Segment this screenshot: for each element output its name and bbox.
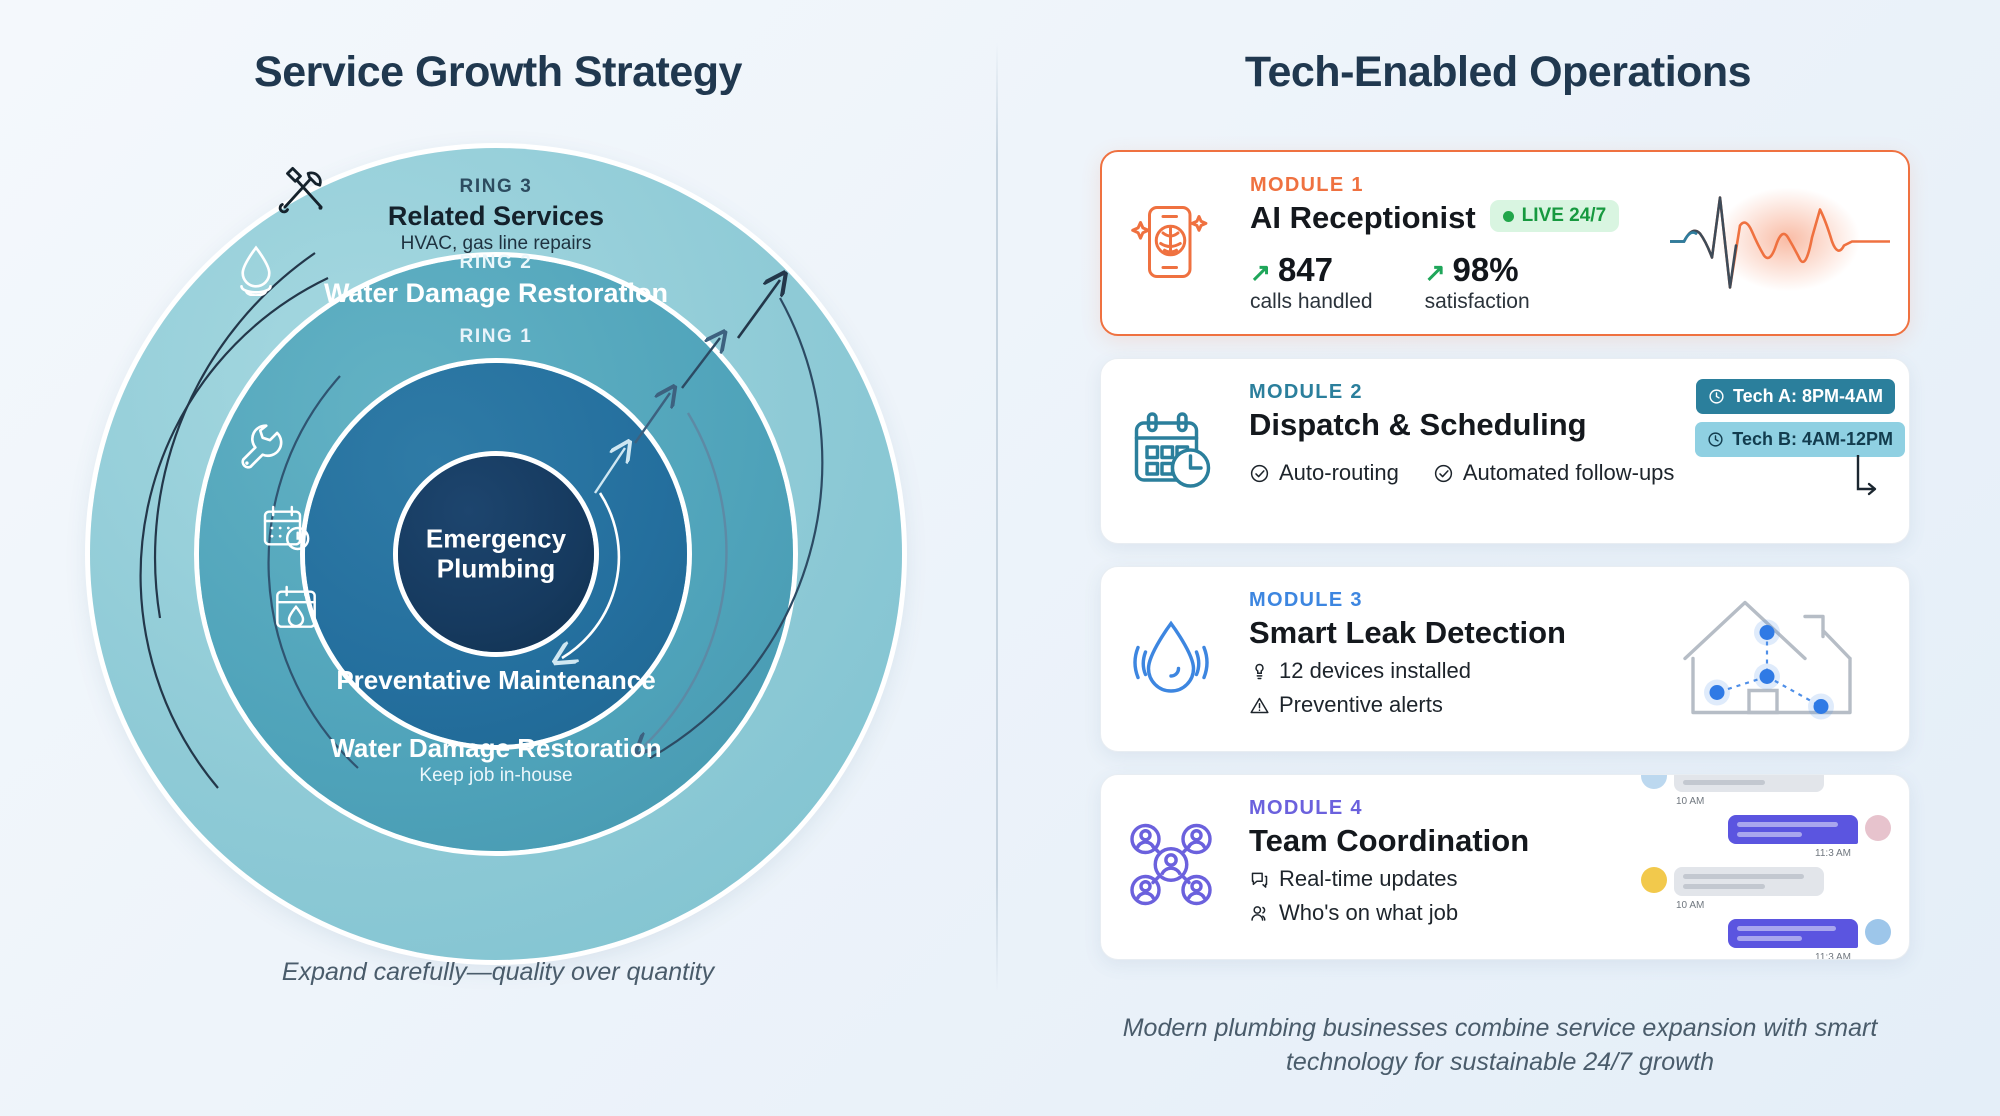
shift-chip-tech-a: Tech A: 8PM-4AM — [1696, 379, 1895, 414]
ring-2-heading: Water Damage Restoration — [90, 279, 902, 308]
trend-up-icon: ↗ — [1425, 258, 1446, 288]
shift-connector-arrow — [1605, 455, 1895, 525]
feature-who-label: Who's on what job — [1279, 900, 1458, 926]
chat-timestamp: 10 AM — [1676, 796, 1891, 807]
infographic-stage: Service Growth Strategy — [0, 0, 2000, 1116]
chat-bubble-them — [1674, 867, 1824, 896]
feature-auto-routing: Auto-routing — [1249, 460, 1399, 486]
calendar-clock-icon — [258, 500, 314, 561]
ring-1-label: RING 1 — [90, 326, 902, 348]
ring-3-heading: Related Services — [90, 202, 902, 231]
sensor-icon — [1249, 661, 1270, 682]
module-card-3[interactable]: MODULE 3 Smart Leak Detection 12 devices… — [1100, 566, 1910, 752]
calendar-clock-icon — [1123, 401, 1219, 502]
trend-up-icon: ↗ — [1250, 258, 1271, 288]
live-dot-icon — [1503, 211, 1514, 222]
shift-chip-tech-a-label: Tech A: 8PM-4AM — [1733, 386, 1883, 407]
voice-waveform-visual — [1670, 176, 1890, 311]
shift-timeline-visual: Tech A: 8PM-4AM Tech B: 4AM-12PM — [1605, 379, 1895, 525]
stat-satisfaction-label: satisfaction — [1425, 290, 1530, 314]
core-label: Emergency Plumbing — [396, 524, 596, 583]
shift-chip-tech-b-label: Tech B: 4AM-12PM — [1732, 429, 1893, 450]
ring-2-kicker: RING 2 — [90, 252, 902, 274]
calendar-drop-icon — [268, 580, 324, 641]
water-drop-icon — [227, 238, 285, 301]
ring-3-label: RING 3 Related Services HVAC, gas line r… — [90, 176, 902, 255]
avatar — [1865, 919, 1891, 945]
status-badge-live: LIVE 24/7 — [1490, 200, 1620, 232]
shift-chip-tech-b: Tech B: 4AM-12PM — [1695, 422, 1905, 457]
check-circle-icon — [1249, 463, 1270, 484]
feature-auto-routing-label: Auto-routing — [1279, 460, 1399, 486]
avatar — [1641, 774, 1667, 789]
chat-row-them — [1641, 774, 1891, 792]
avatar — [1641, 867, 1667, 893]
module-card-1[interactable]: MODULE 1 AI Receptionist LIVE 24/7 ↗ 847 — [1100, 150, 1910, 336]
chat-row-me — [1641, 815, 1891, 844]
stat-satisfaction: ↗ 98% satisfaction — [1425, 251, 1530, 314]
ring-2-label: RING 2 Water Damage Restoration — [90, 252, 902, 308]
module-card-4[interactable]: MODULE 4 Team Coordination Real-time upd… — [1100, 774, 1910, 960]
chat-bubble-them — [1674, 774, 1824, 792]
phone-ai-brain-icon — [1124, 193, 1220, 294]
stat-calls-handled: ↗ 847 calls handled — [1250, 251, 1373, 314]
chat-row-them — [1641, 867, 1891, 896]
service-growth-rings: RING 3 Related Services HVAC, gas line r… — [90, 148, 902, 960]
warning-triangle-icon — [1249, 695, 1270, 716]
module-1-title: AI Receptionist — [1250, 201, 1476, 235]
team-network-icon — [1123, 817, 1219, 918]
module-card-list: MODULE 1 AI Receptionist LIVE 24/7 ↗ 847 — [1100, 150, 1910, 960]
wrench-icon — [230, 416, 288, 479]
water-damage-restoration-subtext: Keep job in-house — [316, 765, 676, 787]
ring-1-kicker: RING 1 — [90, 326, 902, 348]
chat-bubble-me — [1728, 919, 1858, 948]
chat-timestamp: 11:3 AM — [1641, 952, 1851, 960]
house-sensors-visual — [1675, 587, 1875, 732]
feature-alerts-label: Preventive alerts — [1279, 692, 1443, 718]
chat-row-me — [1641, 919, 1891, 948]
people-icon — [1249, 903, 1270, 924]
live-badge-label: LIVE 24/7 — [1522, 205, 1607, 227]
chat-bubbles-icon — [1249, 869, 1270, 890]
crossed-tools-icon — [272, 158, 334, 225]
ring-3-kicker: RING 3 — [90, 176, 902, 198]
water-damage-restoration-heading: Water Damage Restoration — [316, 734, 676, 763]
water-damage-restoration-inner-label: Water Damage Restoration Keep job in-hou… — [316, 734, 676, 787]
preventative-maintenance-label: Preventative Maintenance — [336, 666, 656, 695]
feature-realtime-label: Real-time updates — [1279, 866, 1458, 892]
stat-satisfaction-value: 98% — [1453, 251, 1519, 289]
right-panel-caption: Modern plumbing businesses combine servi… — [1060, 1012, 1940, 1080]
clock-icon — [1708, 388, 1725, 405]
water-sensor-icon — [1123, 609, 1219, 710]
panel-divider — [996, 42, 998, 992]
chat-thread-visual: 10 AM 11:3 AM 10 AM — [1641, 774, 1891, 960]
chat-bubble-me — [1728, 815, 1858, 844]
check-circle-icon — [1433, 463, 1454, 484]
preventative-maintenance-heading: Preventative Maintenance — [336, 666, 656, 695]
stat-calls-label: calls handled — [1250, 290, 1373, 314]
left-panel-caption: Expand carefully—quality over quantity — [0, 958, 996, 987]
chat-timestamp: 10 AM — [1676, 900, 1891, 911]
avatar — [1865, 815, 1891, 841]
chat-timestamp: 11:3 AM — [1641, 848, 1851, 859]
feature-devices-label: 12 devices installed — [1279, 658, 1471, 684]
right-panel-title: Tech-Enabled Operations — [996, 48, 2000, 97]
left-panel-title: Service Growth Strategy — [0, 48, 996, 97]
module-card-2[interactable]: MODULE 2 Dispatch & Scheduling Auto-rout… — [1100, 358, 1910, 544]
stat-calls-value: 847 — [1278, 251, 1333, 289]
clock-icon — [1707, 431, 1724, 448]
